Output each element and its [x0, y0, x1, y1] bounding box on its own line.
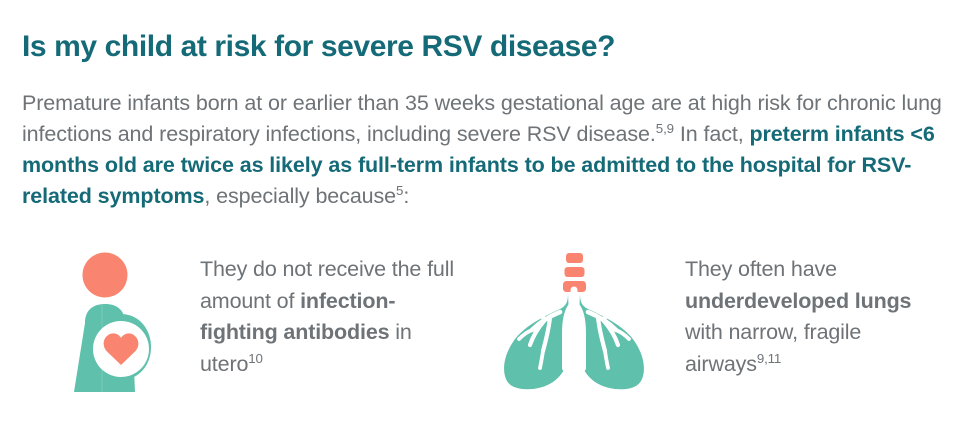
feature-text-antibodies: They do not receive the full amount of i…: [200, 248, 470, 380]
citation-marker-5-9: 5,9: [656, 120, 674, 135]
citation-marker-9-11: 9,11: [757, 350, 781, 365]
citation-marker-10: 10: [248, 350, 263, 365]
pregnant-woman-with-heart-icon: [58, 248, 186, 404]
feature-lungs-bold: underdeveloped lungs: [685, 289, 911, 313]
feature-text-lungs: They often have underdeveloped lungs wit…: [685, 248, 948, 380]
intro-segment-4: :: [403, 184, 409, 208]
intro-paragraph: Premature infants born at or earlier tha…: [22, 88, 944, 212]
lungs-icon: [488, 248, 660, 398]
feature-item-antibodies: They do not receive the full amount of i…: [58, 248, 478, 404]
feature-lungs-text-1: They often have: [685, 257, 837, 281]
page-title: Is my child at risk for severe RSV disea…: [22, 28, 932, 66]
intro-segment-2: In fact,: [674, 122, 749, 146]
intro-segment-3: , especially because: [204, 184, 396, 208]
feature-lungs-text-2: with narrow, fragile airways: [685, 320, 861, 376]
feature-item-lungs: They often have underdeveloped lungs wit…: [488, 248, 948, 398]
